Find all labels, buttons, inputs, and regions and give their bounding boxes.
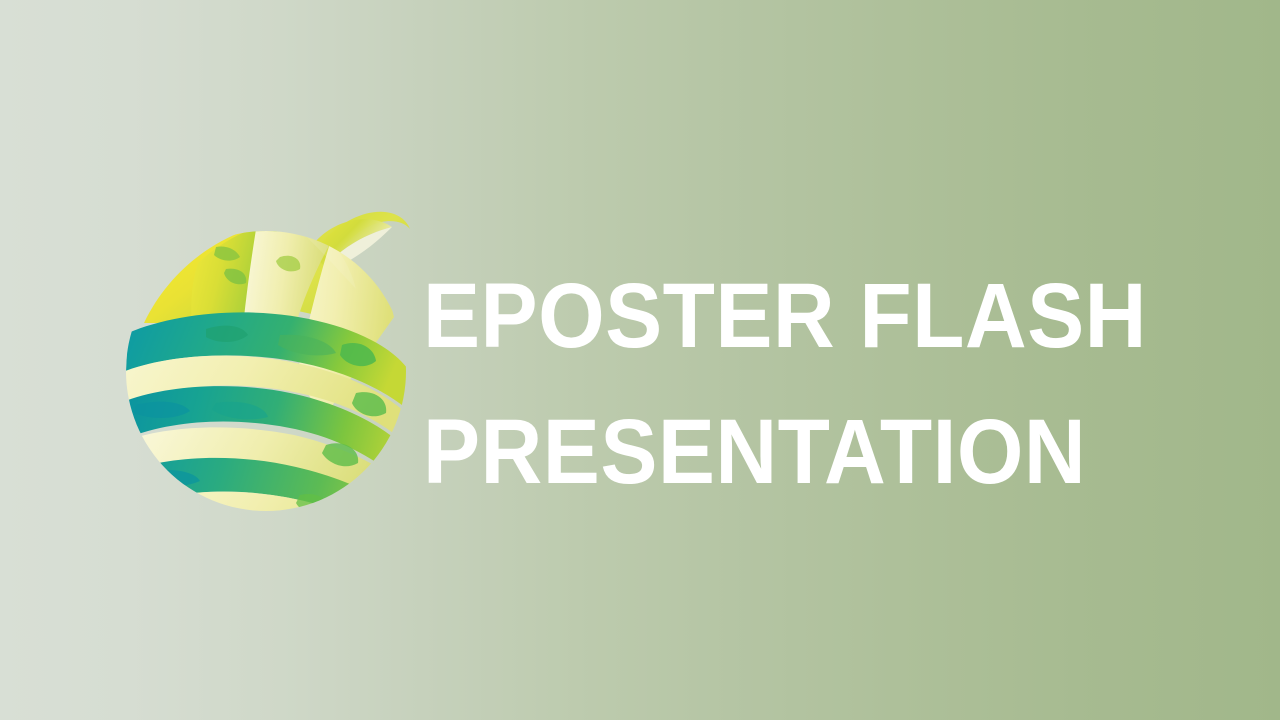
title-line-2: PRESENTATION: [423, 384, 1158, 520]
slide-title: EPOSTER FLASH PRESENTATION: [423, 248, 1213, 520]
globe-ribbon-logo: [120, 205, 412, 517]
title-line-1: EPOSTER FLASH: [423, 248, 1158, 384]
logo-globe-bands: [120, 215, 412, 517]
title-slide: EPOSTER FLASH PRESENTATION: [0, 0, 1280, 720]
